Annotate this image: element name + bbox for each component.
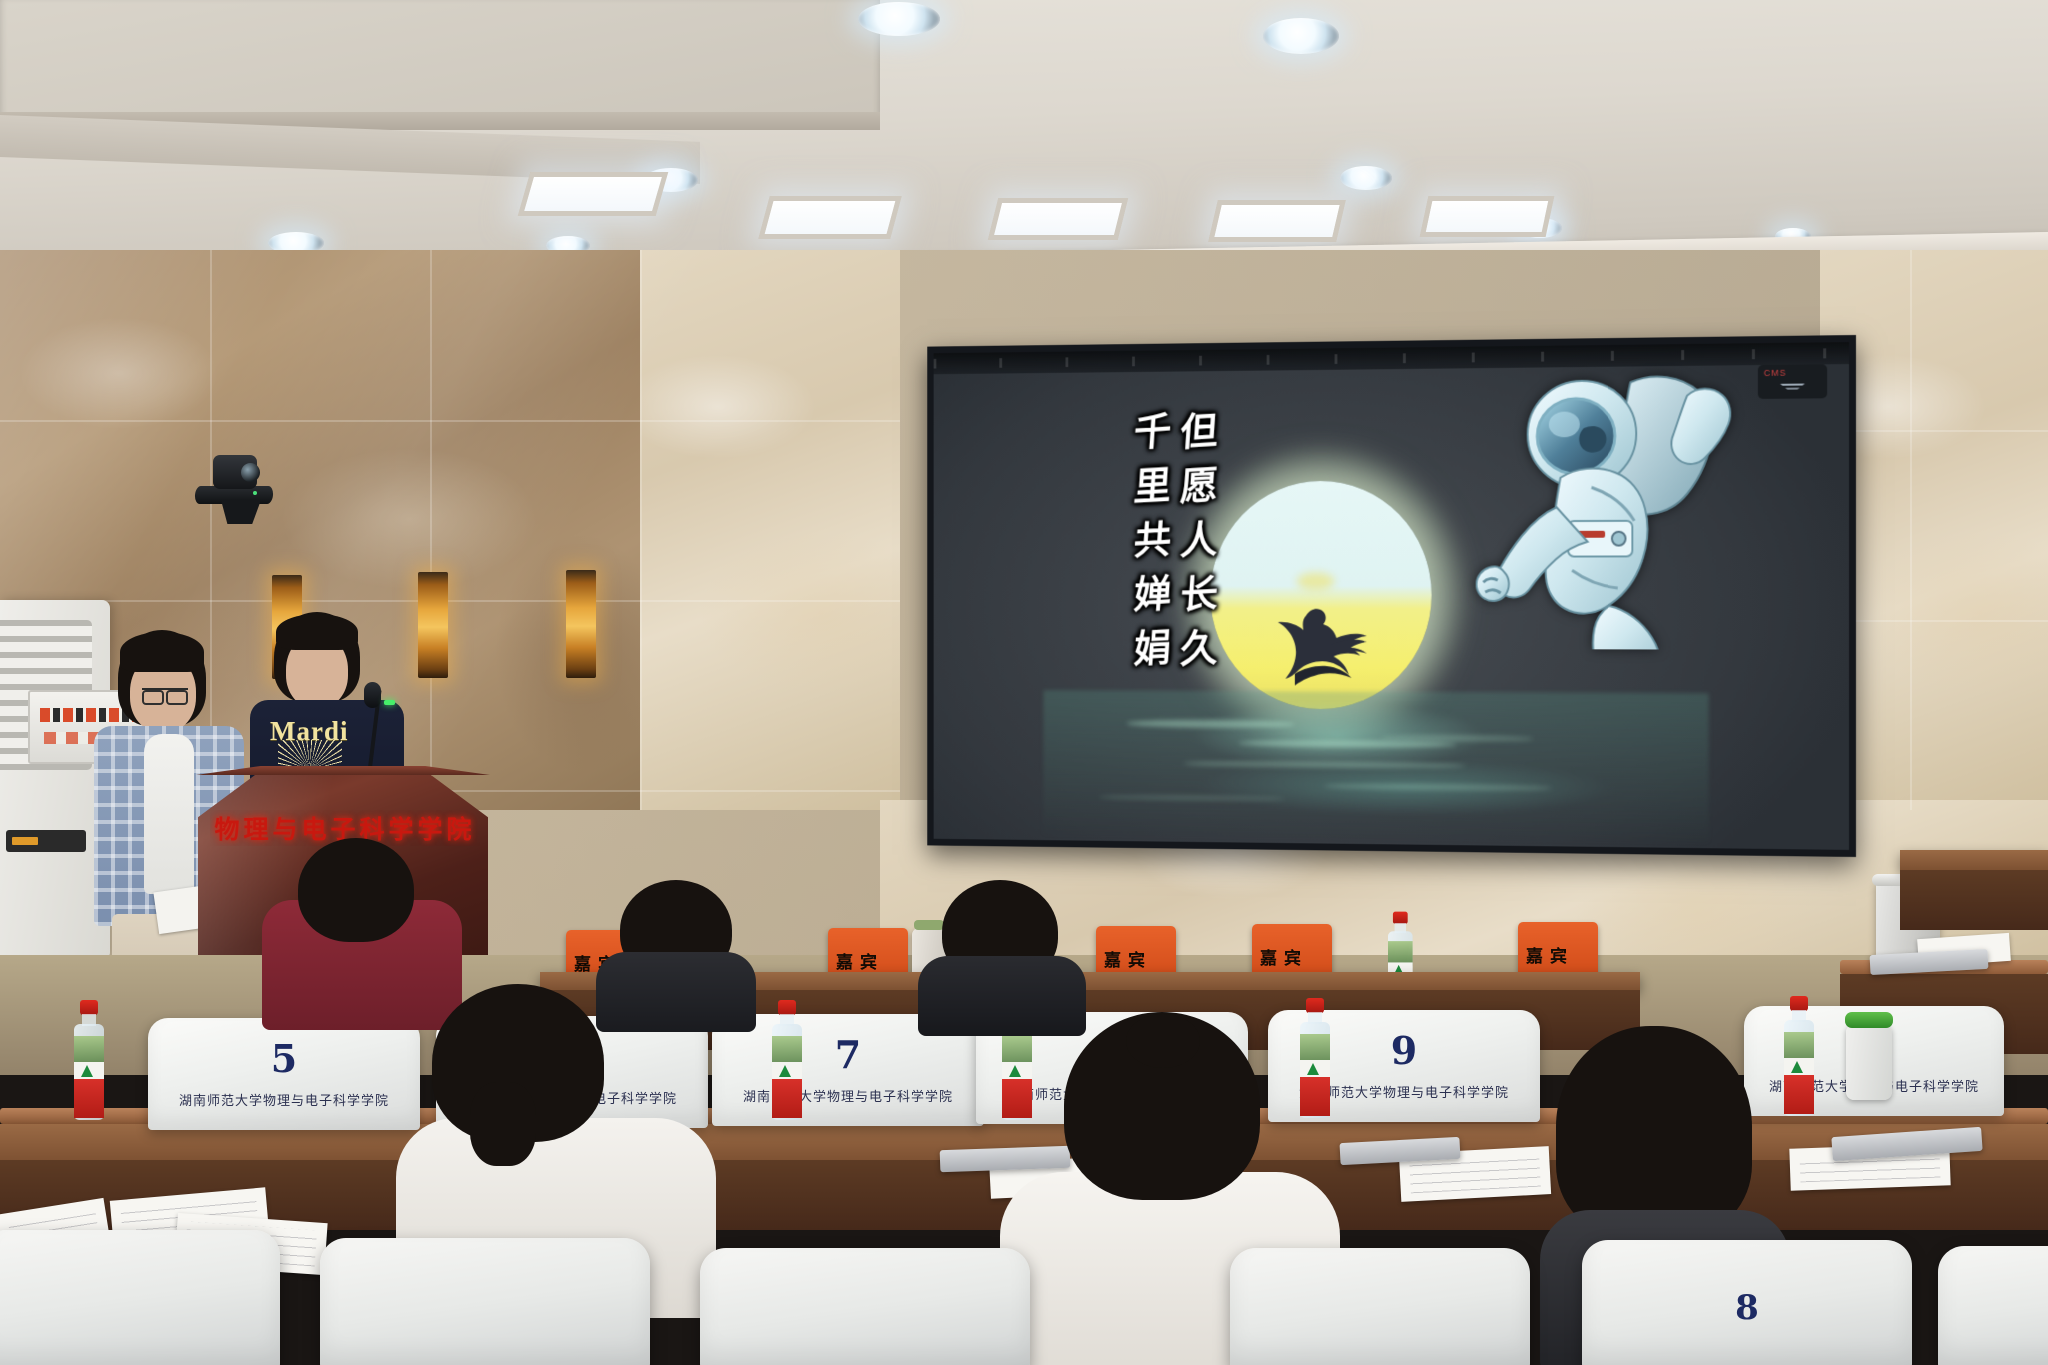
closed-laptop (940, 1146, 1071, 1173)
microphone-icon (364, 682, 381, 708)
screen-logo-text: CMS (1764, 368, 1787, 378)
green-lid-tumbler (1846, 1024, 1892, 1100)
screen-corner-logo: CMS (1758, 364, 1827, 399)
lecture-hall-scene: 但 愿 人 长 久 千 里 共 婵 娟 (0, 0, 2048, 1365)
tile-seam (0, 600, 900, 602)
ceiling-soffit (0, 0, 880, 130)
presenter-inner-shirt (144, 734, 194, 894)
water-bottle (772, 1000, 802, 1120)
tile-seam (1910, 250, 1912, 810)
covered-chair-front (700, 1248, 1030, 1365)
recessed-downlight (1263, 18, 1339, 54)
water-bottle (1300, 998, 1330, 1118)
calligraphy-char: 千 (1132, 407, 1171, 457)
audience-head (298, 838, 414, 942)
bottle-label (1300, 1076, 1330, 1116)
camera-head (213, 455, 257, 489)
led-display-screen: 但 愿 人 长 久 千 里 共 婵 娟 (927, 335, 1856, 857)
ceiling-panel-light (758, 196, 902, 239)
audience-member (596, 952, 756, 1032)
bottle-cap (80, 1000, 98, 1015)
chair-number: 7 (712, 1032, 984, 1077)
covered-chair-front: 8 (1582, 1240, 1912, 1365)
recessed-downlight (858, 2, 940, 36)
calligraphy-column-left: 千 里 共 婵 娟 (1134, 408, 1169, 688)
covered-chair-front (1230, 1248, 1530, 1365)
recessed-downlight (1340, 166, 1392, 190)
chair-organization-label: 湖南师范大学物理与电子科学学院 (712, 1086, 984, 1105)
covered-chair: 5 湖南师范大学物理与电子科学学院 (148, 1018, 420, 1130)
flask-cap (914, 920, 944, 930)
camera-wall-mount (221, 500, 261, 524)
bottle-label (74, 1078, 104, 1118)
ceiling-panel-light (1208, 200, 1346, 242)
calligraphy-char: 人 (1179, 516, 1218, 566)
calligraphy-char: 共 (1132, 516, 1171, 566)
sweatshirt-graphic (278, 740, 342, 770)
calligraphy-char: 但 (1179, 407, 1218, 458)
chevron-down-icon (1778, 382, 1808, 394)
tile-seam (640, 250, 642, 810)
audience-member (918, 956, 1086, 1036)
bottle-cap (1306, 998, 1324, 1013)
audience-bun (1126, 1014, 1200, 1068)
moon-surface-marking (1297, 573, 1335, 591)
air-conditioner-display (6, 830, 86, 852)
chang-e-silhouette (1278, 600, 1394, 694)
microphone-led (384, 700, 395, 705)
guest-placard-label: 嘉宾 (1260, 944, 1308, 969)
water-bottle (74, 1000, 104, 1120)
tile-seam (0, 420, 900, 422)
calligraphy-char: 娟 (1132, 624, 1171, 674)
marble-panel-light (640, 250, 900, 810)
calligraphy-char: 里 (1132, 462, 1171, 512)
ceiling-panel-light (988, 198, 1128, 240)
covered-chair-front (320, 1238, 650, 1365)
calligraphy-char: 长 (1179, 570, 1218, 620)
ptz-conference-camera-icon (195, 455, 273, 525)
bottle-cap (1790, 996, 1808, 1011)
covered-chair-front (1938, 1246, 2048, 1365)
chair-number: 8 (1582, 1288, 1912, 1328)
ceiling-panel-light (1420, 196, 1555, 237)
bottle-label (1002, 1078, 1032, 1118)
calligraphy-char: 婵 (1132, 570, 1171, 620)
astronaut-spacewalk-icon (1476, 361, 1778, 650)
covered-chair-front (0, 1230, 280, 1365)
bottle-label (772, 1078, 802, 1118)
chair-organization-label: 湖南师范大学物理与电子科学学院 (148, 1090, 420, 1109)
audience-head (1556, 1026, 1752, 1236)
screen-content: 但 愿 人 长 久 千 里 共 婵 娟 (934, 342, 1849, 850)
guest-placard-label: 嘉宾 (1104, 946, 1152, 971)
bottle-label (1784, 1074, 1814, 1114)
amber-wall-niche-light (566, 570, 596, 678)
side-desk-front (1900, 870, 2048, 930)
ceiling-panel-light (518, 172, 669, 216)
calligraphy-char: 愿 (1179, 461, 1218, 511)
audience-ponytail (470, 1082, 536, 1166)
calligraphy-column-right: 但 愿 人 长 久 (1180, 408, 1215, 689)
camera-lens-icon (241, 463, 260, 482)
camera-status-led (253, 491, 257, 495)
water-bottle (1784, 996, 1814, 1116)
bottle-cap (778, 1000, 796, 1015)
calligraphy-text: 但 愿 人 长 久 千 里 共 婵 娟 (1021, 408, 1216, 689)
side-desk (1900, 850, 2048, 870)
presenter-fringe (120, 632, 204, 672)
glasses-icon (142, 688, 188, 700)
presenter-fringe (276, 614, 358, 650)
chair-number: 5 (148, 1036, 420, 1081)
tumbler-lid (1845, 1012, 1893, 1028)
guest-placard-label: 嘉宾 (1526, 942, 1574, 967)
bottle-cap (1393, 912, 1408, 924)
guest-placard-label: 嘉宾 (836, 948, 884, 973)
calligraphy-char: 久 (1179, 624, 1218, 674)
